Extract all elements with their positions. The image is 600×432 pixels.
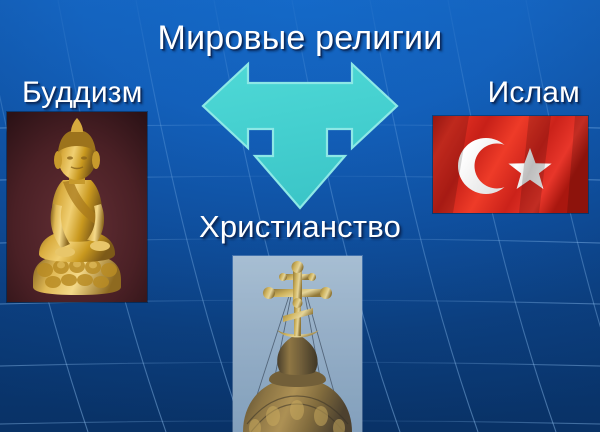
slide-title: Мировые религии — [0, 19, 600, 58]
tri-directional-arrow-icon — [196, 57, 404, 214]
label-islam: Ислам — [488, 76, 580, 110]
buddha-statue-illustration — [7, 112, 147, 302]
photo-islam — [433, 116, 588, 213]
photo-christianity — [233, 256, 362, 432]
presentation-slide: Мировые религии Буддизм Ислам Христианст… — [0, 0, 600, 432]
turkey-flag-illustration — [433, 116, 588, 213]
orthodox-church-dome-illustration — [233, 256, 362, 432]
photo-buddhism — [7, 112, 147, 302]
label-buddhism: Буддизм — [22, 76, 143, 110]
